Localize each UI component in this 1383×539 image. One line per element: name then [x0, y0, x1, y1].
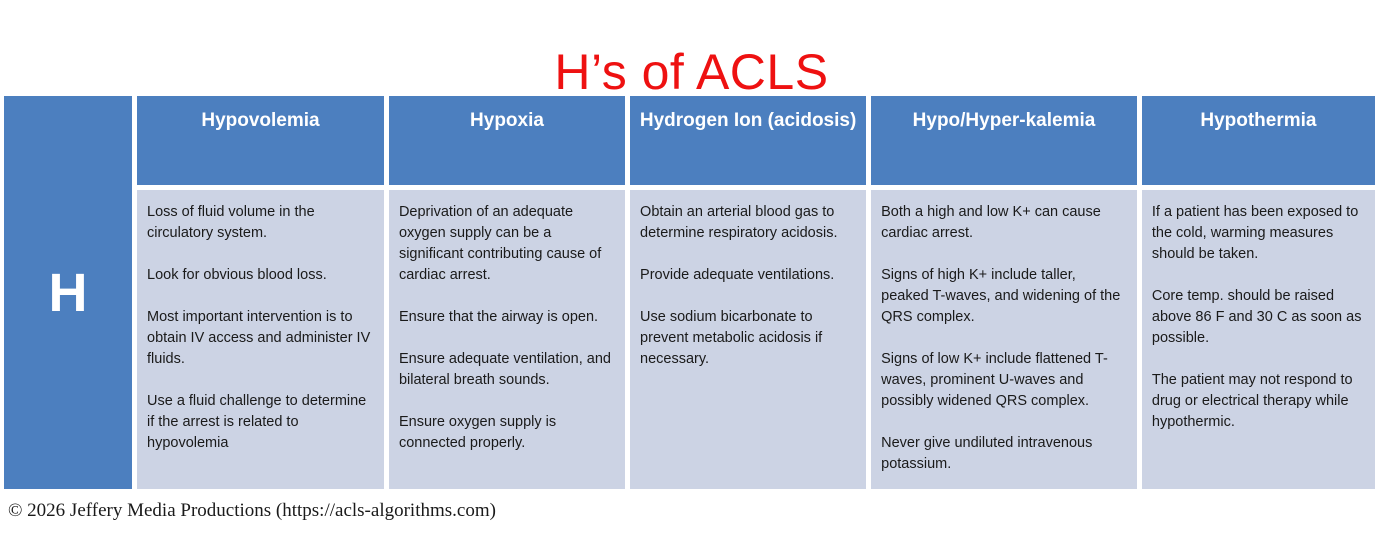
- body-paragraph: Use sodium bicarbonate to prevent metabo…: [640, 307, 856, 370]
- letter-cell-h: H: [4, 96, 132, 489]
- body-paragraph: Never give undiluted intravenous potassi…: [881, 433, 1127, 475]
- body-paragraph: Look for obvious blood loss.: [147, 265, 374, 286]
- column-body-hypovolemia: Loss of fluid volume in the circulatory …: [137, 190, 384, 489]
- column-header-hypo-hyperkalemia: Hypo/Hyper-kalemia: [871, 96, 1137, 185]
- body-paragraph: Provide adequate ventilations.: [640, 265, 856, 286]
- body-paragraph: Signs of low K+ include flattened T-wave…: [881, 349, 1127, 412]
- page-title: H’s of ACLS: [0, 40, 1383, 104]
- column-body-hydrogen-ion: Obtain an arterial blood gas to determin…: [630, 190, 866, 489]
- table-columns: Hypovolemia Loss of fluid volume in the …: [137, 96, 1375, 489]
- body-paragraph: Core temp. should be raised above 86 F a…: [1152, 286, 1365, 349]
- body-paragraph: If a patient has been exposed to the col…: [1152, 202, 1365, 265]
- body-paragraph: Deprivation of an adequate oxygen supply…: [399, 202, 615, 286]
- column-body-hypoxia: Deprivation of an adequate oxygen supply…: [389, 190, 625, 489]
- column-hypoxia: Hypoxia Deprivation of an adequate oxyge…: [389, 96, 625, 489]
- body-paragraph: Use a fluid challenge to determine if th…: [147, 391, 374, 454]
- column-hypo-hyperkalemia: Hypo/Hyper-kalemia Both a high and low K…: [871, 96, 1137, 489]
- body-paragraph: Signs of high K+ include taller, peaked …: [881, 265, 1127, 328]
- column-header-hypoxia: Hypoxia: [389, 96, 625, 185]
- column-body-hypo-hyperkalemia: Both a high and low K+ can cause cardiac…: [871, 190, 1137, 489]
- hs-of-acls-table: H Hypovolemia Loss of fluid volume in th…: [4, 96, 1375, 489]
- body-paragraph: Most important intervention is to obtain…: [147, 307, 374, 370]
- body-paragraph: Ensure that the airway is open.: [399, 307, 615, 328]
- body-paragraph: Both a high and low K+ can cause cardiac…: [881, 202, 1127, 244]
- column-hypothermia: Hypothermia If a patient has been expose…: [1142, 96, 1375, 489]
- column-header-hypothermia: Hypothermia: [1142, 96, 1375, 185]
- body-paragraph: Ensure oxygen supply is connected proper…: [399, 412, 615, 454]
- body-paragraph: The patient may not respond to drug or e…: [1152, 370, 1365, 433]
- body-paragraph: Loss of fluid volume in the circulatory …: [147, 202, 374, 244]
- column-hypovolemia: Hypovolemia Loss of fluid volume in the …: [137, 96, 384, 489]
- footer-credit: © 2026 Jeffery Media Productions (https:…: [8, 498, 496, 524]
- body-paragraph: Obtain an arterial blood gas to determin…: [640, 202, 856, 244]
- column-body-hypothermia: If a patient has been exposed to the col…: [1142, 190, 1375, 489]
- letter-h-glyph: H: [49, 266, 88, 320]
- column-hydrogen-ion: Hydrogen Ion (acidosis) Obtain an arteri…: [630, 96, 866, 489]
- column-header-hypovolemia: Hypovolemia: [137, 96, 384, 185]
- body-paragraph: Ensure adequate ventilation, and bilater…: [399, 349, 615, 391]
- column-header-hydrogen-ion: Hydrogen Ion (acidosis): [630, 96, 866, 185]
